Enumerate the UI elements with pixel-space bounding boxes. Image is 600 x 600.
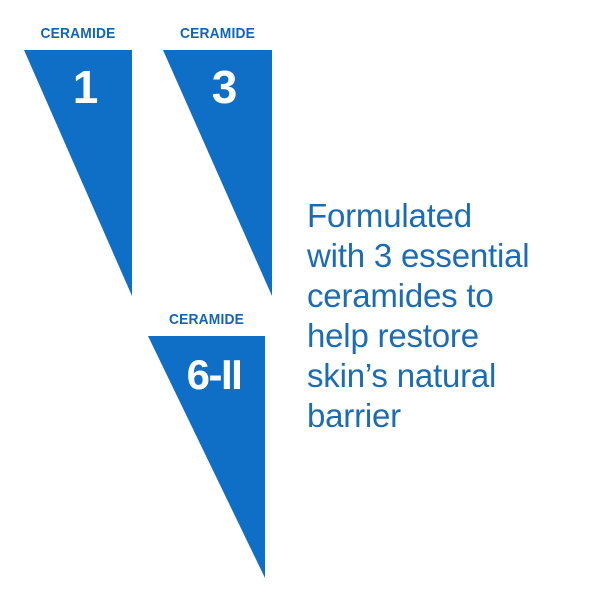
description-line-2: with 3 essential [307, 236, 577, 276]
description-line-6: barrier [307, 396, 577, 436]
description-line-3: ceramides to [307, 276, 577, 316]
ceramide-badge-1: CERAMIDE 1 [24, 26, 132, 296]
ceramide-number-3: 6-II [166, 352, 262, 398]
description-line-4: help restore [307, 316, 577, 356]
ceramide-number-1: 1 [42, 64, 128, 110]
description-line-5: skin’s natural [307, 356, 577, 396]
description-text: Formulated with 3 essential ceramides to… [307, 196, 577, 436]
ceramide-number-2: 3 [181, 64, 267, 110]
description-line-1: Formulated [307, 196, 577, 236]
ceramide-badge-3: CERAMIDE 3 [163, 26, 272, 296]
ceramide-badge-6-ii: CERAMIDE 6-II [148, 312, 265, 578]
infographic-canvas: CERAMIDE 1 CERAMIDE 3 CERAMIDE 6-II Form… [0, 0, 600, 600]
